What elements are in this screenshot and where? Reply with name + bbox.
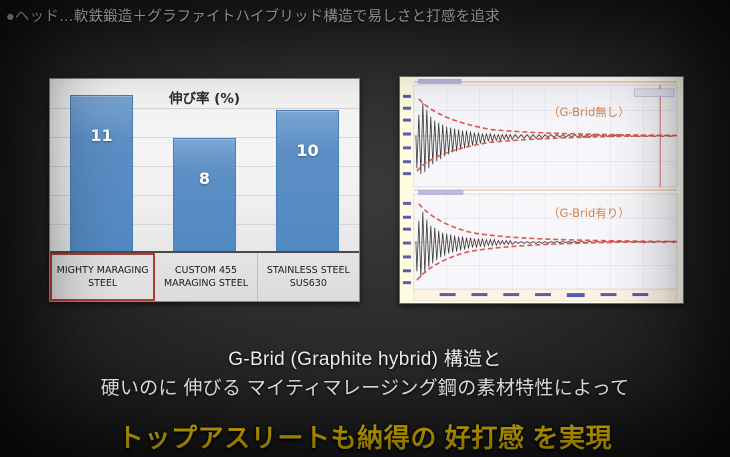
bar-chart-bars: 11 8 10 <box>50 79 359 253</box>
vibration-damping-chart: （G-Brid無し） （G-Brid有り） <box>399 76 684 304</box>
category-line-2-0: STAINLESS STEEL <box>267 264 350 277</box>
bar-chart-plot-area: 伸び率 (%) 11 8 10 <box>50 79 359 253</box>
bar-value-0: 11 <box>71 126 133 145</box>
category-line-2-1: SUS630 <box>290 277 327 290</box>
bar-column-2: 10 <box>256 79 359 253</box>
bar-mighty-maraging-steel: 11 <box>70 95 134 253</box>
elongation-bar-chart: 伸び率 (%) 11 8 10 MIGHTY MARAGING STEE <box>49 78 360 302</box>
slide-header: ●ヘッド…軟鉄鍛造＋グラファイトハイブリッド構造で易しさと打感を追求 <box>6 7 724 27</box>
bar-custom-455-maraging-steel: 8 <box>173 138 237 253</box>
vibration-label-without-gbrid: （G-Brid無し） <box>548 104 630 120</box>
category-label-stainless-sus630: STAINLESS STEEL SUS630 <box>258 253 359 301</box>
bar-value-1: 8 <box>174 169 236 188</box>
bar-column-0: 11 <box>50 79 153 253</box>
bar-value-2: 10 <box>277 141 339 160</box>
tagline-text: トップアスリートも納得の 好打感 を実現 <box>0 418 730 455</box>
category-label-mighty-maraging-steel: MIGHTY MARAGING STEEL <box>50 253 155 301</box>
category-line-1-0: CUSTOM 455 <box>175 264 237 277</box>
bar-stainless-steel-sus630: 10 <box>276 110 340 253</box>
category-label-custom-455: CUSTOM 455 MARAGING STEEL <box>155 253 257 301</box>
caption-block: G-Brid (Graphite hybrid) 構造と 硬いのに 伸びる マイ… <box>0 345 730 403</box>
category-line-1-1: MARAGING STEEL <box>164 277 248 290</box>
bar-column-1: 8 <box>153 79 256 253</box>
vibration-label-with-gbrid: （G-Brid有り） <box>548 205 630 221</box>
bar-chart-category-row: MIGHTY MARAGING STEEL CUSTOM 455 MARAGIN… <box>50 253 359 301</box>
category-line-0-1: STEEL <box>88 277 117 290</box>
caption-line-1: G-Brid (Graphite hybrid) 構造と <box>0 345 730 374</box>
caption-line-2: 硬いのに 伸びる マイティマレージング鋼の素材特性によって <box>0 374 730 403</box>
category-line-0-0: MIGHTY MARAGING <box>57 264 149 277</box>
vibration-chart-svg <box>400 77 683 303</box>
